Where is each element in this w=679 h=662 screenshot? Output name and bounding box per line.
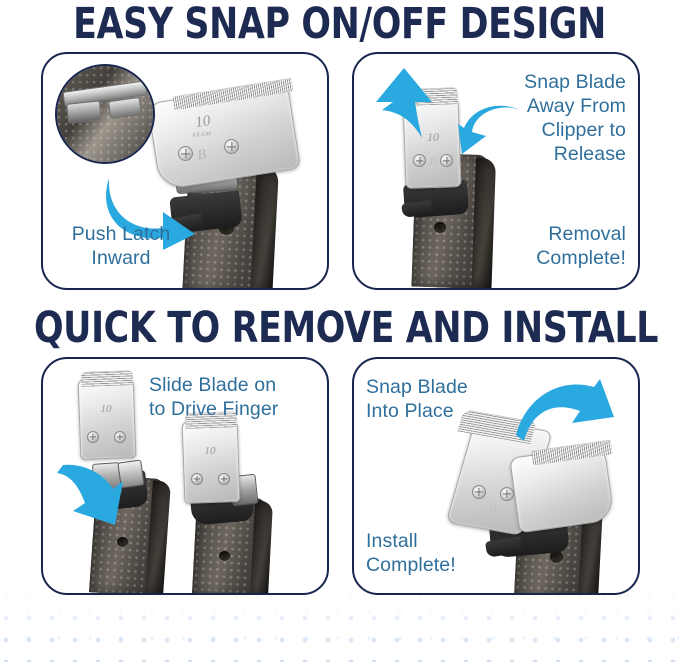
clipper-blade-screw-right bbox=[224, 139, 239, 154]
clipper-body-hole bbox=[434, 222, 446, 233]
latch-detail-inset bbox=[55, 64, 155, 164]
latch-detail-metal-clip bbox=[66, 100, 102, 123]
caption-removal-complete: Removal Complete! bbox=[456, 222, 626, 270]
clipper-blade-engraving-logo: B bbox=[190, 146, 214, 165]
clipper-blade-engraving-logo: B bbox=[482, 499, 504, 515]
step-panel-snap-blade-into-place: B Snap Blade Into Place Install Complete… bbox=[352, 357, 640, 595]
step-panel-snap-blade-away: 10 B Snap Blade Away From Clipper to Rel… bbox=[352, 52, 640, 290]
seated-blade-engraving-number: 10 bbox=[195, 445, 225, 457]
clipper-body-hole bbox=[219, 551, 230, 561]
seated-blade-plate bbox=[182, 418, 241, 504]
caption-slide-blade-on: Slide Blade on to Drive Finger bbox=[149, 373, 327, 421]
page-title-primary: EASY SNAP ON/OFF DESIGN bbox=[34, 2, 645, 46]
caption-snap-blade-into-place: Snap Blade Into Place bbox=[366, 375, 536, 423]
seated-blade-screw-right bbox=[218, 473, 230, 485]
arrow-down-left-icon bbox=[57, 459, 123, 537]
detached-blade-plate bbox=[78, 376, 137, 460]
clipper-body-hole bbox=[117, 537, 128, 547]
detached-blade-engraving-number: 10 bbox=[91, 403, 121, 415]
detached-blade-screw-right bbox=[114, 431, 126, 443]
caption-push-latch: Push Latch Inward bbox=[51, 222, 191, 270]
page-title-secondary: QUICK TO REMOVE AND INSTALL bbox=[34, 306, 645, 350]
step-panel-push-latch: 10 FX-Lite B Push Latch Inward bbox=[41, 52, 329, 290]
clipper-blade-screw-left bbox=[472, 485, 486, 499]
caption-snap-blade-away: Snap Blade Away From Clipper to Release bbox=[456, 70, 626, 166]
detached-blade-engraving-logo: B bbox=[422, 154, 444, 169]
seated-blade-screw-left bbox=[191, 473, 203, 485]
detached-blade-teeth bbox=[81, 370, 133, 387]
arrow-up-icon bbox=[376, 68, 432, 138]
clipper-body-shadow-edge bbox=[250, 501, 273, 595]
background-dot-pattern bbox=[0, 590, 679, 662]
caption-install-complete: Install Complete! bbox=[366, 529, 536, 577]
detached-blade-screw-left bbox=[87, 431, 99, 443]
step-panel-slide-blade-on: 10 10 Slide Blade on to Drive Finger bbox=[41, 357, 329, 595]
